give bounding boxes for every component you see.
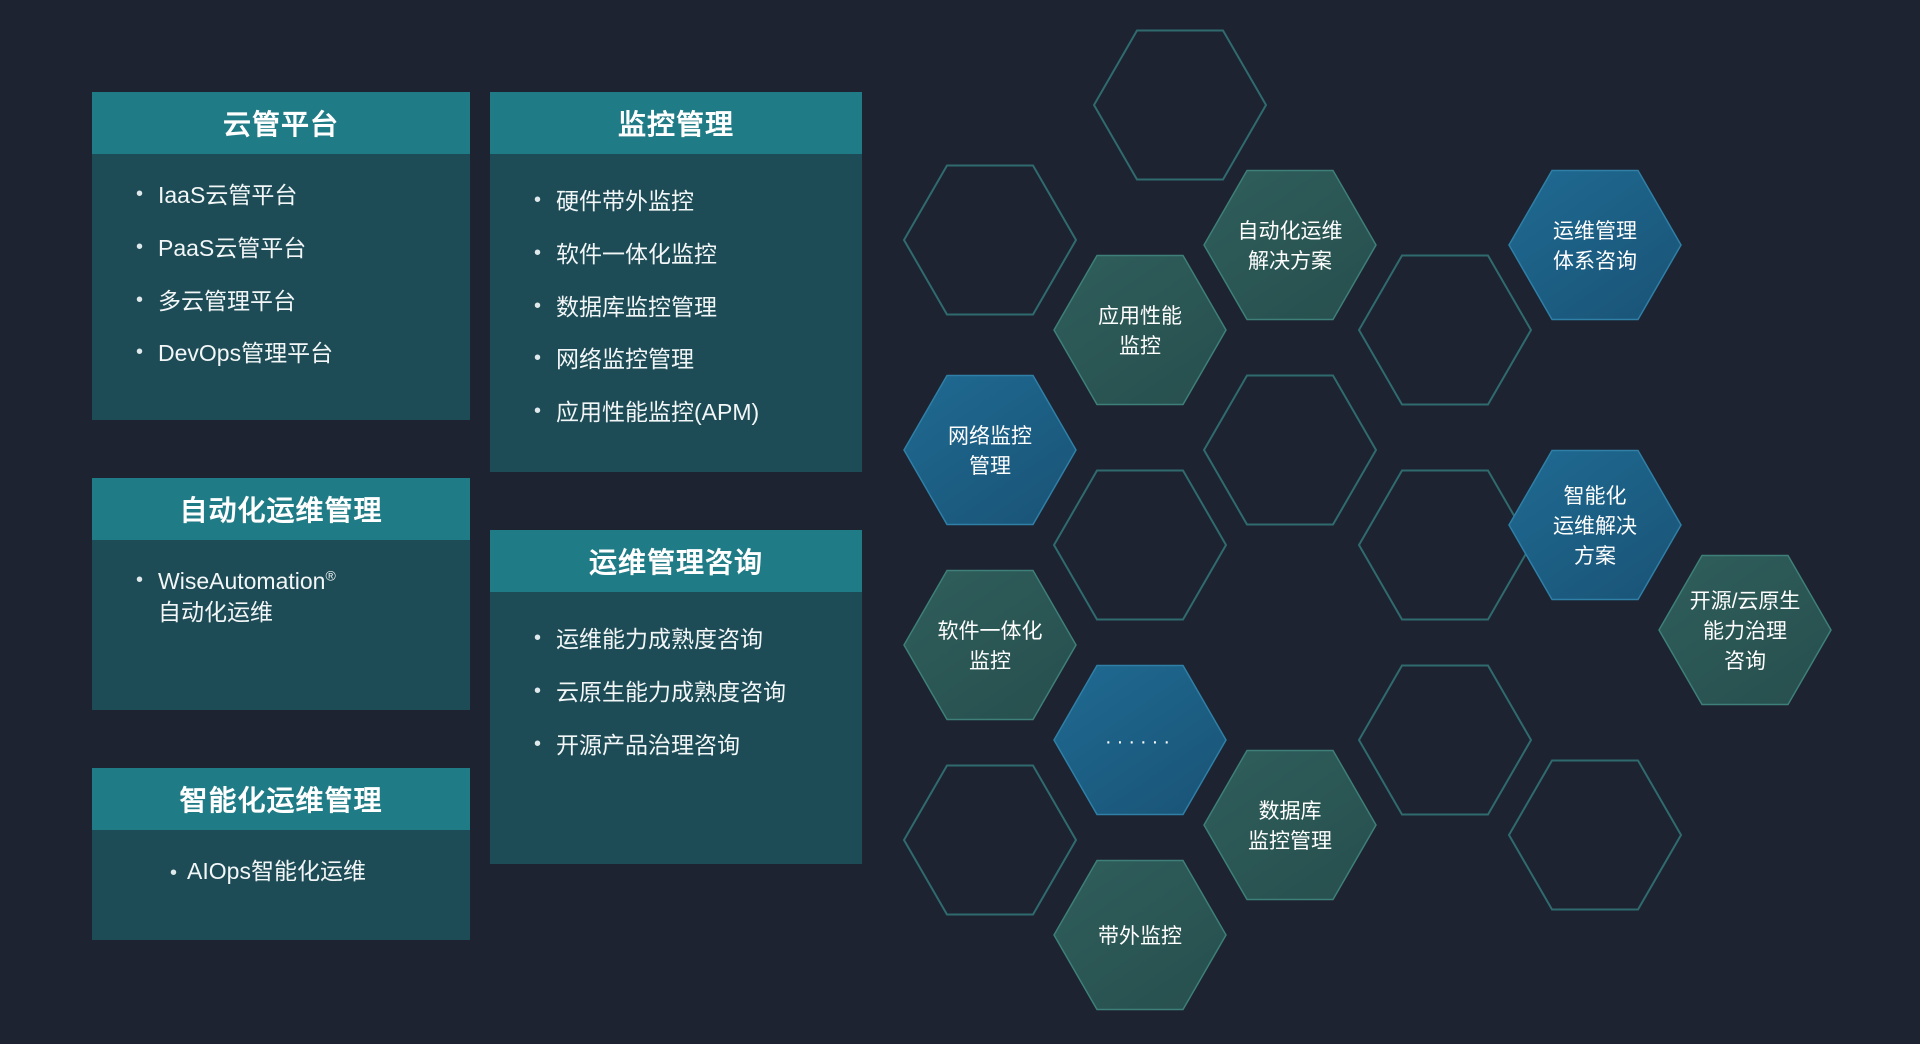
- hexagon-label: 能力治理: [1703, 620, 1787, 643]
- card-body-automation-ops: WiseAutomation® 自动化运维: [92, 540, 470, 710]
- hexagon-shape: [1359, 471, 1531, 620]
- bullet-list-aiops: AIOps智能化运维: [92, 856, 470, 887]
- hexagon-empty-lower-right: [1359, 666, 1531, 815]
- hexagon-label: 软件一体化: [938, 620, 1043, 643]
- hexagon-shape: [1204, 171, 1376, 320]
- hexagon-dots[interactable]: ······: [1054, 666, 1226, 815]
- card-monitoring[interactable]: 监控管理 硬件带外监控 软件一体化监控 数据库监控管理 网络监控管理 应用性能监…: [490, 92, 862, 472]
- list-item: WiseAutomation® 自动化运维: [136, 566, 444, 628]
- card-column-right: 监控管理 硬件带外监控 软件一体化监控 数据库监控管理 网络监控管理 应用性能监…: [490, 92, 862, 864]
- hexagon-label: 智能化: [1564, 485, 1627, 508]
- hexagon-opensource-consult[interactable]: 开源/云原生能力治理咨询: [1659, 556, 1831, 705]
- hexagon-ops-mgmt-consult[interactable]: 运维管理体系咨询: [1509, 171, 1681, 320]
- hexagon-empty-bottom-left: [904, 766, 1076, 915]
- hexagon-label: 管理: [969, 455, 1011, 478]
- list-item-line2: 自动化运维: [158, 597, 444, 628]
- hexagon-label: 体系咨询: [1553, 250, 1637, 273]
- hexagon-empty-upper-left: [904, 166, 1076, 315]
- hexagon-shape: [904, 166, 1076, 315]
- bullet-list-ops-consulting: 运维能力成熟度咨询 云原生能力成熟度咨询 开源产品治理咨询: [490, 624, 862, 760]
- card-automation-ops[interactable]: 自动化运维管理 WiseAutomation® 自动化运维: [92, 478, 470, 710]
- list-item: 软件一体化监控: [534, 239, 836, 270]
- hexagon-auto-ops-solution[interactable]: 自动化运维解决方案: [1204, 171, 1376, 320]
- hexagon-network-monitor[interactable]: 网络监控管理: [904, 376, 1076, 525]
- hexagon-shape: [904, 766, 1076, 915]
- hexagon-shape: [1054, 471, 1226, 620]
- hexagon-empty-top-far: [1094, 31, 1266, 180]
- list-item: DevOps管理平台: [136, 338, 444, 369]
- hexagon-app-perf-monitor[interactable]: 应用性能监控: [1054, 256, 1226, 405]
- hexagon-shape: [1359, 256, 1531, 405]
- registered-trademark-symbol: ®: [325, 567, 335, 583]
- hexagon-label: 监控管理: [1248, 830, 1332, 853]
- hexagon-shape: [1359, 666, 1531, 815]
- hexagon-label: 监控: [969, 650, 1011, 673]
- list-item: IaaS云管平台: [136, 180, 444, 211]
- hexagon-label: 解决方案: [1248, 250, 1332, 273]
- list-item: 硬件带外监控: [534, 186, 836, 217]
- hexagon-shape: [904, 571, 1076, 720]
- hexagon-db-monitor[interactable]: 数据库监控管理: [1204, 751, 1376, 900]
- hexagon-label: 咨询: [1724, 650, 1766, 673]
- list-item: 数据库监控管理: [534, 292, 836, 323]
- hexagon-label: 监控: [1119, 335, 1161, 358]
- card-body-cloud-platform: IaaS云管平台 PaaS云管平台 多云管理平台 DevOps管理平台: [92, 154, 470, 420]
- list-item: 应用性能监控(APM): [534, 397, 836, 428]
- hexagon-label: ······: [1105, 731, 1175, 753]
- card-title-ops-consulting: 运维管理咨询: [490, 530, 862, 592]
- hexagon-label: 运维解决: [1553, 515, 1637, 538]
- list-item: AIOps智能化运维: [92, 856, 444, 887]
- hexagon-shape: [1509, 761, 1681, 910]
- slide-root: 云管平台 IaaS云管平台 PaaS云管平台 多云管理平台 DevOps管理平台…: [0, 0, 1920, 1044]
- hexagon-empty-mid-right-a: [1359, 256, 1531, 405]
- card-title-cloud-platform: 云管平台: [92, 92, 470, 154]
- card-cloud-platform[interactable]: 云管平台 IaaS云管平台 PaaS云管平台 多云管理平台 DevOps管理平台: [92, 92, 470, 420]
- list-item: 开源产品治理咨询: [534, 730, 836, 761]
- list-item: 云原生能力成熟度咨询: [534, 677, 836, 708]
- hexagon-label: 运维管理: [1553, 220, 1637, 243]
- card-title-monitoring: 监控管理: [490, 92, 862, 154]
- card-body-ops-consulting: 运维能力成熟度咨询 云原生能力成熟度咨询 开源产品治理咨询: [490, 592, 862, 864]
- hexagon-empty-center-b: [1204, 376, 1376, 525]
- hexagon-label: 应用性能: [1098, 305, 1182, 328]
- bullet-list-automation-ops: WiseAutomation® 自动化运维: [92, 566, 470, 628]
- hexagon-software-monitor[interactable]: 软件一体化监控: [904, 571, 1076, 720]
- hexagon-empty-center-c: [1359, 471, 1531, 620]
- bullet-list-monitoring: 硬件带外监控 软件一体化监控 数据库监控管理 网络监控管理 应用性能监控(APM…: [490, 186, 862, 428]
- hexagon-out-of-band[interactable]: 带外监控: [1054, 861, 1226, 1010]
- hexagon-label: 带外监控: [1098, 925, 1182, 948]
- hexagon-honeycomb-panel: 自动化运维解决方案运维管理体系咨询应用性能监控网络监控管理智能化运维解决方案开源…: [880, 0, 1920, 1044]
- card-column-left: 云管平台 IaaS云管平台 PaaS云管平台 多云管理平台 DevOps管理平台…: [92, 92, 470, 940]
- list-item: 网络监控管理: [534, 344, 836, 375]
- list-item: PaaS云管平台: [136, 233, 444, 264]
- hexagon-label: 开源/云原生: [1690, 590, 1801, 613]
- hexagon-shape: [904, 376, 1076, 525]
- capability-cards-panel: 云管平台 IaaS云管平台 PaaS云管平台 多云管理平台 DevOps管理平台…: [0, 0, 880, 1044]
- list-item: 运维能力成熟度咨询: [534, 624, 836, 655]
- card-title-aiops: 智能化运维管理: [92, 768, 470, 830]
- hexagon-shape: [1204, 751, 1376, 900]
- card-aiops[interactable]: 智能化运维管理 AIOps智能化运维: [92, 768, 470, 940]
- hexagon-empty-center-a: [1054, 471, 1226, 620]
- hexagon-diagram: 自动化运维解决方案运维管理体系咨询应用性能监控网络监控管理智能化运维解决方案开源…: [880, 0, 1920, 1044]
- hexagon-label: 方案: [1574, 545, 1616, 568]
- list-item-line1: WiseAutomation®: [158, 568, 336, 594]
- card-body-aiops: AIOps智能化运维: [92, 830, 470, 940]
- hexagon-label: 数据库: [1259, 800, 1322, 823]
- hexagon-shape: [1204, 376, 1376, 525]
- hexagon-shape: [1054, 256, 1226, 405]
- bullet-list-cloud-platform: IaaS云管平台 PaaS云管平台 多云管理平台 DevOps管理平台: [92, 180, 470, 369]
- hexagon-smart-ops-solution[interactable]: 智能化运维解决方案: [1509, 451, 1681, 600]
- hexagon-label: 网络监控: [948, 425, 1032, 448]
- hexagon-label: 自动化运维: [1238, 220, 1343, 243]
- hexagon-shape: [1094, 31, 1266, 180]
- card-ops-consulting[interactable]: 运维管理咨询 运维能力成熟度咨询 云原生能力成熟度咨询 开源产品治理咨询: [490, 530, 862, 864]
- hexagon-empty-lower-far: [1509, 761, 1681, 910]
- card-body-monitoring: 硬件带外监控 软件一体化监控 数据库监控管理 网络监控管理 应用性能监控(APM…: [490, 154, 862, 472]
- list-item: 多云管理平台: [136, 286, 444, 317]
- hexagon-shape: [1509, 171, 1681, 320]
- card-title-automation-ops: 自动化运维管理: [92, 478, 470, 540]
